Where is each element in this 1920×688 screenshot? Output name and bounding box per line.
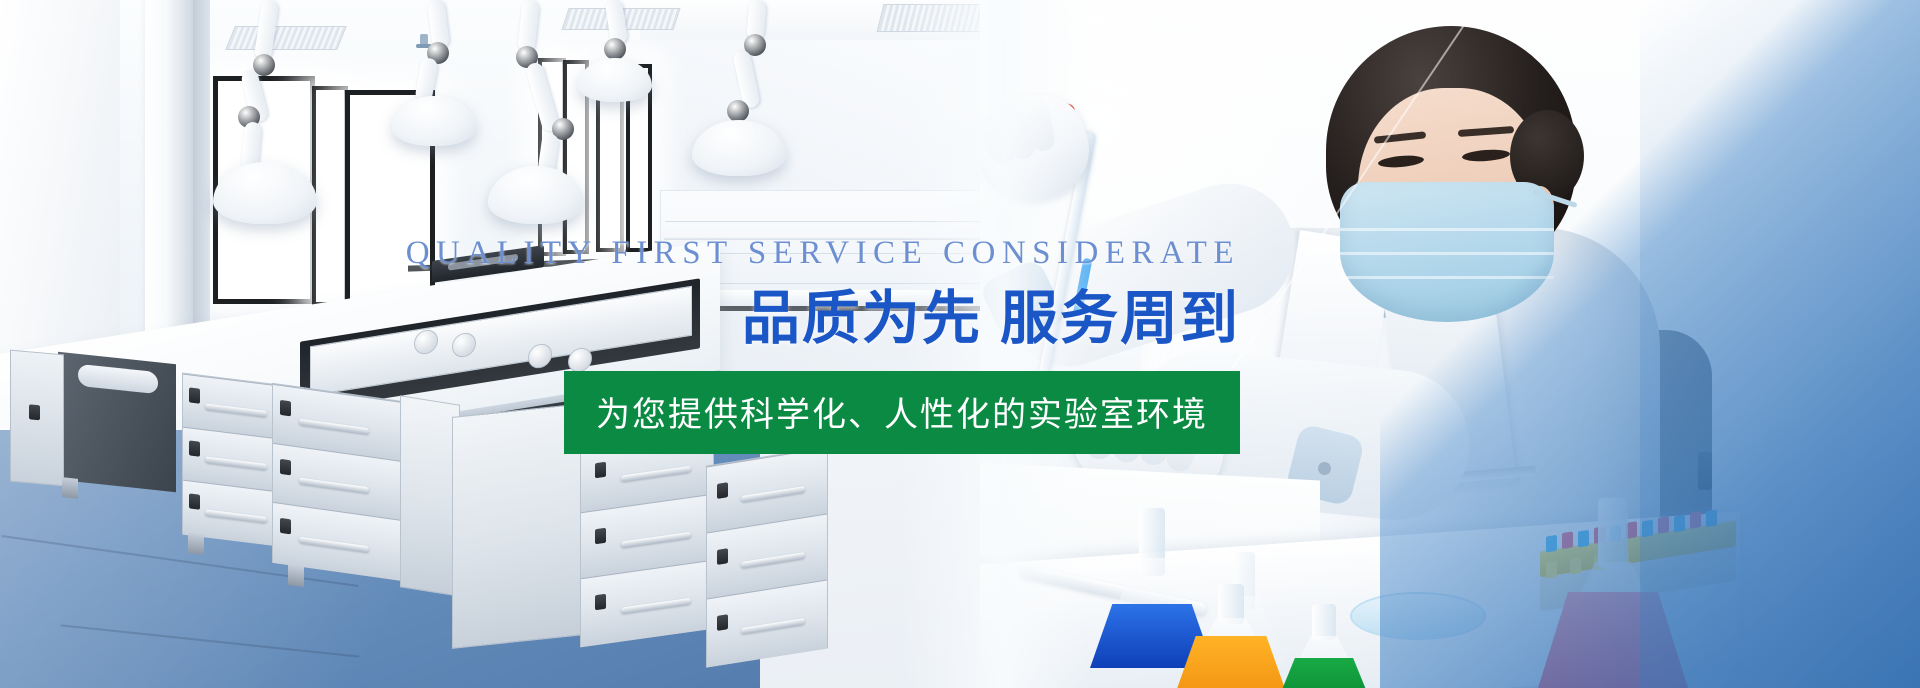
cuff-button-icon <box>1318 462 1331 475</box>
hero-subtitle-bar: 为您提供科学化、人性化的实验室环境 <box>564 371 1240 454</box>
drawer-cabinet <box>706 446 828 667</box>
sprinkler-icon <box>420 34 428 46</box>
cabinet-foot <box>62 477 78 499</box>
hero-subtitle-text: 为您提供科学化、人性化的实验室环境 <box>596 396 1208 434</box>
hero-eyebrow: QUALITY FIRST SERVICE CONSIDERATE <box>300 236 1240 271</box>
hero-headline: 品质为先 服务周到 <box>300 285 1240 353</box>
ceiling-vent-icon <box>225 26 347 50</box>
cabinet-door <box>10 350 64 487</box>
drawer-cabinet <box>580 427 714 648</box>
cabinet-foot <box>188 533 204 555</box>
flask-green <box>1268 604 1380 688</box>
blue-gradient-overlay-2 <box>1640 0 1920 688</box>
cabinet-foot <box>288 565 304 587</box>
hero-banner: QUALITY FIRST SERVICE CONSIDERATE 品质为先 服… <box>0 0 1920 688</box>
structural-column <box>145 0 193 340</box>
hero-copy-block: QUALITY FIRST SERVICE CONSIDERATE 品质为先 服… <box>300 236 1240 454</box>
